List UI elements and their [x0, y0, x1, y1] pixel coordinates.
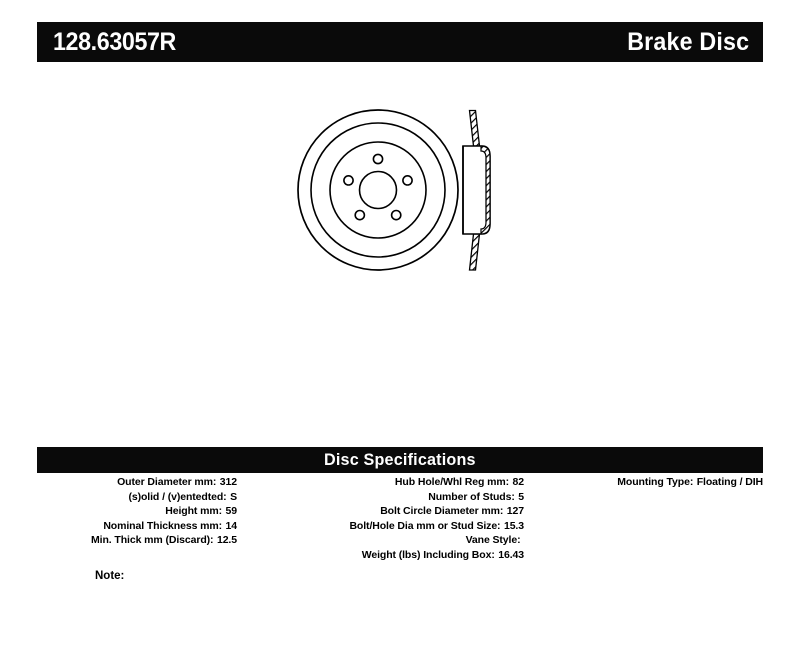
technical-drawing	[0, 70, 800, 430]
spec-table: Outer Diameter mm: 312 (s)olid / (v)ente…	[37, 476, 763, 576]
spec-column-middle: Hub Hole/Whl Reg mm: 82 Number of Studs:…	[259, 476, 524, 564]
spec-label: Number of Studs:	[428, 491, 514, 503]
spec-row: Nominal Thickness mm: 14	[37, 520, 237, 535]
spec-label: Weight (lbs) Including Box:	[362, 549, 495, 561]
spec-label: Vane Style:	[466, 534, 521, 546]
note-block: Note:	[95, 570, 124, 582]
spec-label: Nominal Thickness mm:	[103, 520, 222, 532]
spec-row: Outer Diameter mm: 312	[37, 476, 237, 491]
spec-column-left: Outer Diameter mm: 312 (s)olid / (v)ente…	[37, 476, 237, 549]
spec-value: 12.5	[213, 534, 237, 546]
lower-flange-hatched-section	[470, 234, 480, 270]
part-number: 128.63057R	[53, 28, 176, 57]
spec-row: (s)olid / (v)entedted: S	[37, 491, 237, 506]
spec-row: Min. Thick mm (Discard): 12.5	[37, 534, 237, 549]
page-title: Brake Disc	[627, 28, 749, 57]
brake-disc-drawing-svg	[0, 70, 800, 430]
spec-value: 59	[222, 505, 237, 517]
upper-flange-hatched-section	[470, 111, 480, 147]
spec-label: Height mm:	[165, 505, 222, 517]
spec-value: 14	[222, 520, 237, 532]
spec-row: Vane Style:	[259, 534, 524, 549]
spec-label: Bolt/Hole Dia mm or Stud Size:	[349, 520, 500, 532]
spec-row: Hub Hole/Whl Reg mm: 82	[259, 476, 524, 491]
spec-section-title: Disc Specifications	[324, 450, 476, 470]
spec-label: Mounting Type:	[617, 476, 693, 488]
header-bar: 128.63057R Brake Disc	[37, 22, 763, 62]
brake-disc-cross-section-view	[463, 111, 490, 271]
spec-label: Hub Hole/Whl Reg mm:	[395, 476, 509, 488]
spec-label: (s)olid / (v)entedted:	[128, 491, 226, 503]
spec-value: 312	[216, 476, 237, 488]
spec-section-header: Disc Specifications	[37, 447, 763, 473]
spec-value: 15.3	[500, 520, 524, 532]
spec-value: S	[227, 491, 237, 503]
spec-value: 82	[509, 476, 524, 488]
spec-row: Mounting Type: Floating / DIH	[545, 476, 763, 491]
spec-label: Bolt Circle Diameter mm:	[380, 505, 503, 517]
spec-value: Floating / DIH	[693, 476, 763, 488]
spec-row: Number of Studs: 5	[259, 491, 524, 506]
spec-label: Outer Diameter mm:	[117, 476, 216, 488]
spec-value: 5	[515, 491, 524, 503]
spec-label: Min. Thick mm (Discard):	[91, 534, 213, 546]
brake-disc-front-view	[298, 110, 458, 270]
spec-value: 127	[503, 505, 524, 517]
spec-value: 16.43	[495, 549, 524, 561]
spec-column-right: Mounting Type: Floating / DIH	[545, 476, 763, 491]
spec-row: Weight (lbs) Including Box: 16.43	[259, 549, 524, 564]
note-label: Note:	[95, 570, 124, 582]
rotor-outer-edge-circle	[298, 110, 458, 270]
spec-row: Height mm: 59	[37, 505, 237, 520]
spec-row: Bolt/Hole Dia mm or Stud Size: 15.3	[259, 520, 524, 535]
spec-row: Bolt Circle Diameter mm: 127	[259, 505, 524, 520]
